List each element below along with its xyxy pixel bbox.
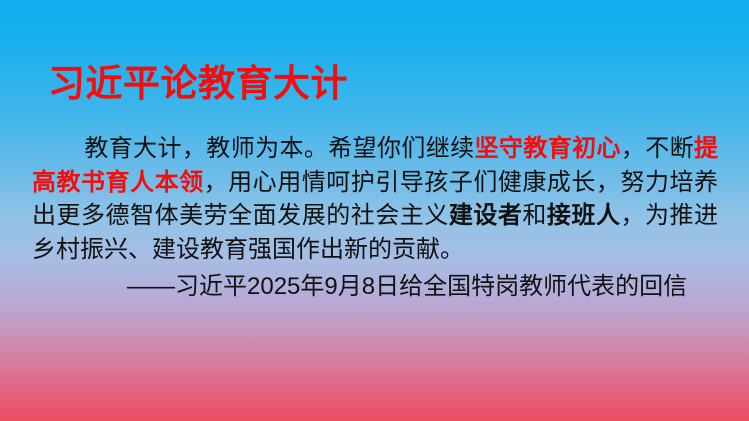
quote-body: 教育大计，教师为本。希望你们继续坚守教育初心，不断提高教书育人本领，用心用情呵护… [32, 132, 718, 266]
quote-attribution: ——习近平2025年9月8日给全国特岗教师代表的回信 [127, 271, 687, 303]
quote-bold-builders: 建设者 [449, 202, 523, 229]
slide-canvas: 习近平论教育大计 教育大计，教师为本。希望你们继续坚守教育初心，不断提高教书育人… [0, 0, 749, 421]
quote-part-1: 教育大计，教师为本。希望你们继续 [84, 135, 475, 162]
quote-part-4: 和 [522, 202, 547, 229]
page-title: 习近平论教育大计 [48, 61, 688, 107]
quote-part-2: ，不断 [621, 135, 694, 162]
quote-highlight-keep-original-aspiration: 坚守教育初心 [475, 135, 621, 162]
quote-bold-successors: 接班人 [547, 202, 621, 229]
